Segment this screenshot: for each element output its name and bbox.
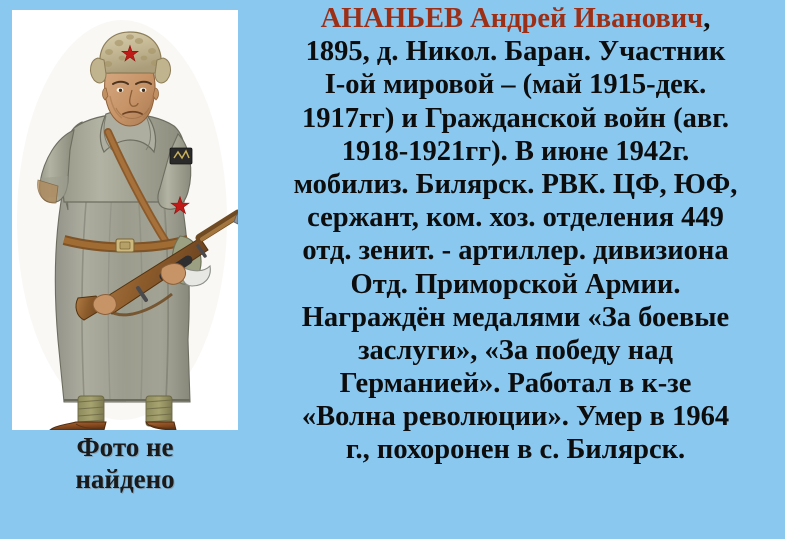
bio-line-6: сержант, ком. хоз. отделения 449 (248, 201, 783, 234)
bio-line-5: мобилиз. Билярск. РВК. ЦФ, ЮФ, (248, 168, 783, 201)
veteran-biography-text: АНАНЬЕВ Андрей Иванович, 1895, д. Никол.… (248, 2, 783, 467)
bio-line-8: Отд. Приморской Армии. (248, 268, 783, 301)
bio-line-7: отд. зенит. - артиллер. дивизиона (248, 234, 783, 267)
bio-line-9: Награждён медалями «За боевые (248, 301, 783, 334)
veteran-name: АНАНЬЕВ Андрей Иванович, (248, 2, 783, 35)
photo-not-found-caption: Фото не найдено (6, 432, 244, 496)
veteran-name-comma: , (703, 3, 710, 34)
veteran-name-text: АНАНЬЕВ Андрей Иванович (321, 3, 704, 34)
caption-line-1: Фото не (76, 432, 173, 462)
bio-line-2: I-ой мировой – (май 1915-дек. (248, 68, 783, 101)
bio-line-12: «Волна революции». Умер в 1964 (248, 400, 783, 433)
bio-line-10: заслуги», «За победу над (248, 334, 783, 367)
bio-line-1: 1895, д. Никол. Баран. Участник (248, 35, 783, 68)
bio-line-11: Германией». Работал в к-зе (248, 367, 783, 400)
soviet-soldier-illustration (12, 10, 238, 430)
photo-placeholder-panel (12, 10, 238, 430)
memorial-slide: Фото не найдено АНАНЬЕВ Андрей Иванович,… (0, 0, 785, 539)
caption-line-2: найдено (75, 464, 174, 494)
bio-line-4: 1918-1921гг). В июне 1942г. (248, 135, 783, 168)
bio-line-13: г., похоронен в с. Билярск. (248, 433, 783, 466)
bio-line-3: 1917гг) и Гражданской войн (авг. (248, 102, 783, 135)
